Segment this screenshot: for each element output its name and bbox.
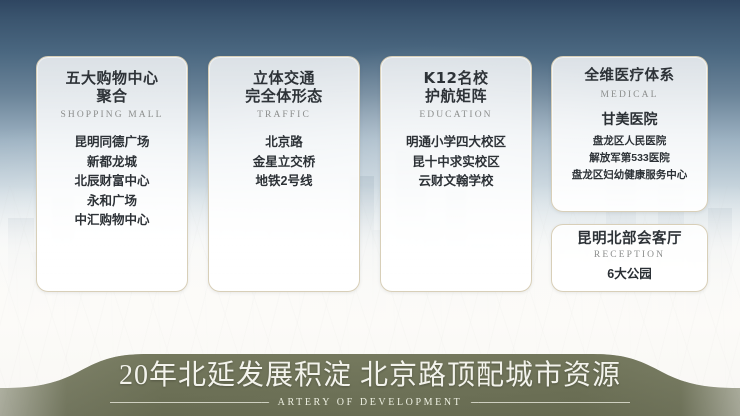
- card-lead-item: 6大公园: [552, 263, 707, 282]
- list-item: 北京路: [209, 133, 359, 152]
- rule-right: [479, 402, 630, 403]
- card-subtitle: MEDICAL: [552, 90, 707, 100]
- list-item: 昆十中求实校区: [381, 153, 531, 172]
- banner-subline-row: ARTERY OF DEVELOPMENT: [110, 397, 630, 408]
- card-subtitle: EDUCATION: [381, 110, 531, 120]
- card-traffic[interactable]: 立体交通 完全体形态 TRAFFIC 北京路 金星立交桥 地铁2号线: [208, 56, 360, 292]
- list-item: 明通小学四大校区: [381, 133, 531, 152]
- card-lead-item: 甘美医院: [552, 109, 707, 129]
- feature-card-group: 五大购物中心 聚合 SHOPPING MALL 昆明同德广场 新都龙城 北辰财富…: [0, 0, 740, 330]
- card-title-line1: 昆明北部会客厅: [552, 231, 707, 248]
- card-title-line1: 五大购物中心: [37, 70, 187, 88]
- card-item-list: 盘龙区人民医院 解放军第533医院 盘龙区妇幼健康服务中心: [552, 133, 707, 184]
- card-title: K12名校 护航矩阵: [381, 70, 531, 105]
- card-item-list: 明通小学四大校区 昆十中求实校区 云财文翰学校: [381, 133, 531, 191]
- card-item-list: 北京路 金星立交桥 地铁2号线: [209, 133, 359, 191]
- rule-left: [110, 402, 261, 403]
- bottom-banner: 20年北延发展积淀 北京路顶配城市资源 ARTERY OF DEVELOPMEN…: [0, 342, 740, 416]
- card-title: 昆明北部会客厅: [552, 231, 707, 248]
- banner-subline: ARTERY OF DEVELOPMENT: [269, 397, 472, 408]
- card-shopping-mall[interactable]: 五大购物中心 聚合 SHOPPING MALL 昆明同德广场 新都龙城 北辰财富…: [36, 56, 188, 292]
- list-item: 新都龙城: [37, 153, 187, 172]
- list-item: 盘龙区妇幼健康服务中心: [552, 167, 707, 184]
- banner-headline: 20年北延发展积淀 北京路顶配城市资源: [119, 353, 621, 393]
- list-item: 地铁2号线: [209, 172, 359, 191]
- card-item-list: 昆明同德广场 新都龙城 北辰财富中心 永和广场 中汇购物中心: [37, 133, 187, 230]
- card-title: 五大购物中心 聚合: [37, 70, 187, 105]
- card-education[interactable]: K12名校 护航矩阵 EDUCATION 明通小学四大校区 昆十中求实校区 云财…: [380, 56, 532, 292]
- banner-text-block: 20年北延发展积淀 北京路顶配城市资源 ARTERY OF DEVELOPMEN…: [0, 342, 740, 416]
- poster-canvas: 五大购物中心 聚合 SHOPPING MALL 昆明同德广场 新都龙城 北辰财富…: [0, 0, 740, 416]
- card-title: 立体交通 完全体形态: [209, 70, 359, 105]
- card-reception[interactable]: 昆明北部会客厅 RECEPTION 6大公园: [551, 224, 708, 292]
- list-item: 昆明同德广场: [37, 133, 187, 152]
- list-item: 金星立交桥: [209, 153, 359, 172]
- tick-left-icon: [260, 402, 269, 403]
- card-title-line2: 护航矩阵: [381, 88, 531, 106]
- card-title: 全维医疗体系: [552, 68, 707, 85]
- card-title-line2: 聚合: [37, 88, 187, 106]
- card-title-line2: 完全体形态: [209, 88, 359, 106]
- list-item: 中汇购物中心: [37, 211, 187, 230]
- tick-right-icon: [471, 402, 480, 403]
- card-title-line1: K12名校: [381, 70, 531, 88]
- card-medical[interactable]: 全维医疗体系 MEDICAL 甘美医院 盘龙区人民医院 解放军第533医院 盘龙…: [551, 56, 708, 212]
- list-item: 北辰财富中心: [37, 172, 187, 191]
- list-item: 云财文翰学校: [381, 172, 531, 191]
- card-subtitle: TRAFFIC: [209, 110, 359, 120]
- card-title-line1: 全维医疗体系: [552, 68, 707, 85]
- card-subtitle: RECEPTION: [552, 250, 707, 260]
- list-item: 永和广场: [37, 192, 187, 211]
- card-title-line1: 立体交通: [209, 70, 359, 88]
- card-subtitle: SHOPPING MALL: [37, 110, 187, 120]
- list-item: 解放军第533医院: [552, 150, 707, 167]
- list-item: 盘龙区人民医院: [552, 133, 707, 150]
